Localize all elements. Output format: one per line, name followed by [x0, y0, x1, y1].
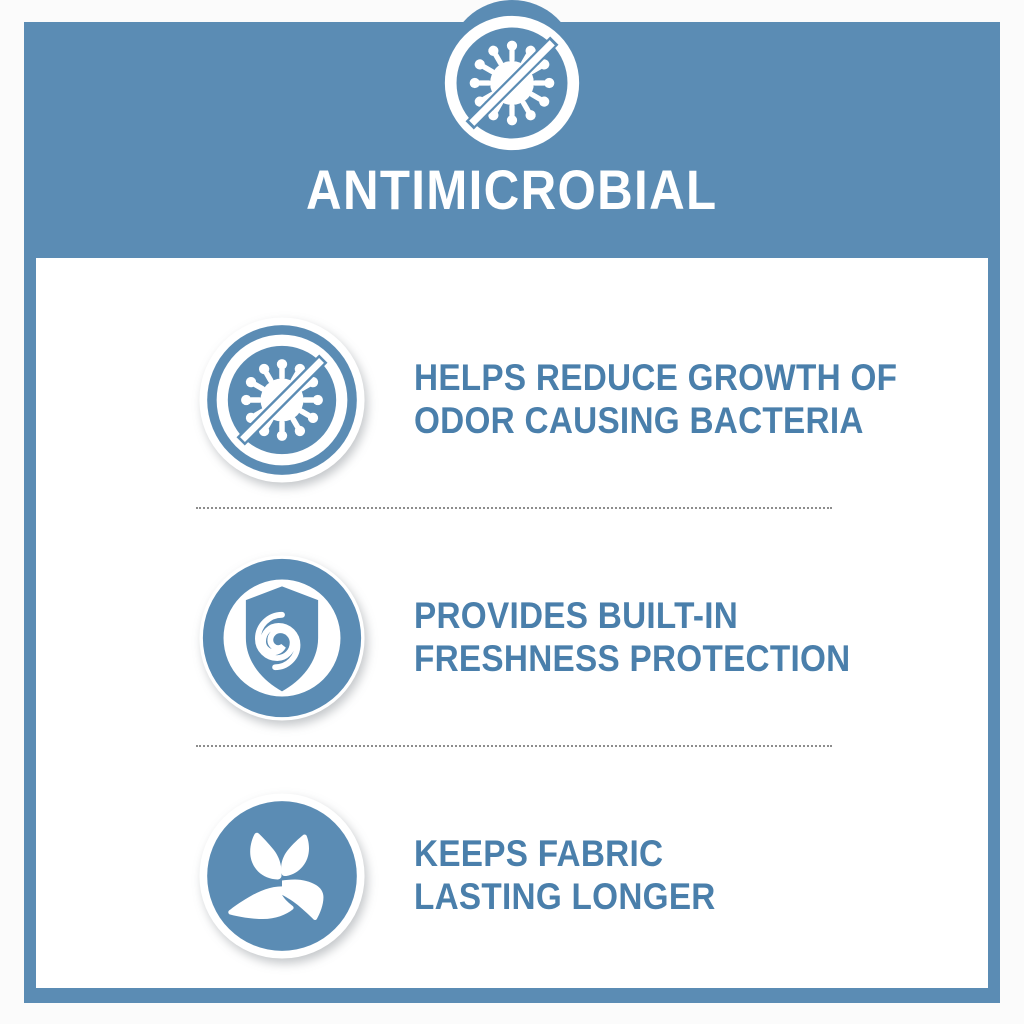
feature-text: HELPS REDUCE GROWTH OF ODOR CAUSING BACT…	[414, 357, 897, 443]
no-bacteria-icon	[439, 10, 585, 156]
feature-text: KEEPS FABRIC LASTING LONGER	[414, 833, 716, 919]
feature-line-1: HELPS REDUCE GROWTH OF	[414, 357, 897, 400]
row-divider	[196, 745, 832, 747]
feature-text: PROVIDES BUILT-IN FRESHNESS PROTECTION	[414, 595, 851, 681]
features-list: HELPS REDUCE GROWTH OF ODOR CAUSING BACT…	[36, 258, 988, 988]
feature-row: HELPS REDUCE GROWTH OF ODOR CAUSING BACT…	[36, 300, 988, 500]
feature-line-2: FRESHNESS PROTECTION	[414, 638, 851, 681]
shield-swirl-icon	[196, 552, 368, 724]
antimicrobial-infographic: ANTIMICROBIAL	[0, 0, 1024, 1024]
feature-line-1: PROVIDES BUILT-IN	[414, 595, 851, 638]
feature-line-2: LASTING LONGER	[414, 876, 716, 919]
feature-line-2: ODOR CAUSING BACTERIA	[414, 400, 897, 443]
header-banner: ANTIMICROBIAL	[24, 22, 1000, 258]
feature-row: KEEPS FABRIC LASTING LONGER	[36, 776, 988, 976]
row-divider	[196, 507, 832, 509]
page-title: ANTIMICROBIAL	[306, 162, 717, 218]
feature-row: PROVIDES BUILT-IN FRESHNESS PROTECTION	[36, 538, 988, 738]
features-panel: HELPS REDUCE GROWTH OF ODOR CAUSING BACT…	[36, 258, 988, 988]
feature-line-1: KEEPS FABRIC	[414, 833, 716, 876]
no-bacteria-icon	[196, 314, 368, 486]
leaves-sprout-icon	[196, 790, 368, 962]
